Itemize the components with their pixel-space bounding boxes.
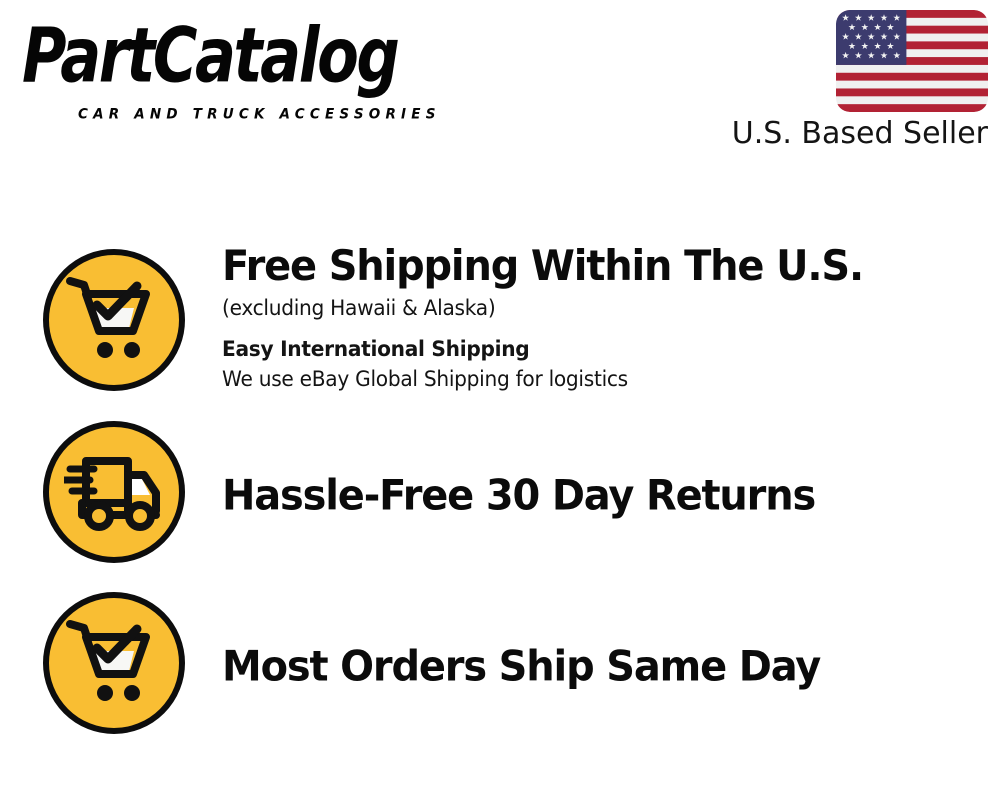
feature-text-block: Most Orders Ship Same Day xyxy=(222,643,962,688)
feature-row: Most Orders Ship Same Day xyxy=(0,586,1000,746)
us-based-seller-label: U.S. Based Seller xyxy=(713,116,988,151)
feature-title: Most Orders Ship Same Day xyxy=(222,643,925,688)
feature-title: Hassle-Free 30 Day Returns xyxy=(222,472,925,517)
feature-icon-badge xyxy=(43,592,185,734)
feature-subtext: We use eBay Global Shipping for logistic… xyxy=(222,365,932,393)
feature-title: Free Shipping Within The U.S. xyxy=(222,243,925,288)
feature-text-block: Free Shipping Within The U.S. (excluding… xyxy=(222,243,962,393)
feature-row: Hassle-Free 30 Day Returns xyxy=(0,415,1000,575)
shopping-cart-check-icon xyxy=(64,617,164,709)
us-flag-icon xyxy=(836,10,988,112)
delivery-truck-icon xyxy=(64,453,164,531)
shopping-cart-check-icon xyxy=(64,274,164,366)
brand-wordmark: PartCatalog xyxy=(22,18,397,94)
feature-subtext-bold: Easy International Shipping xyxy=(222,335,932,363)
feature-subtext: (excluding Hawaii & Alaska) xyxy=(222,294,932,322)
feature-text-block: Hassle-Free 30 Day Returns xyxy=(222,472,962,517)
brand-logo[interactable]: PartCatalog CAR AND TRUCK ACCESSORIES xyxy=(22,18,492,118)
brand-tagline: CAR AND TRUCK ACCESSORIES xyxy=(78,106,441,123)
us-based-seller-badge: U.S. Based Seller xyxy=(713,10,988,151)
feature-row: Free Shipping Within The U.S. (excluding… xyxy=(0,243,1000,408)
feature-icon-badge xyxy=(43,421,185,563)
feature-icon-badge xyxy=(43,249,185,391)
